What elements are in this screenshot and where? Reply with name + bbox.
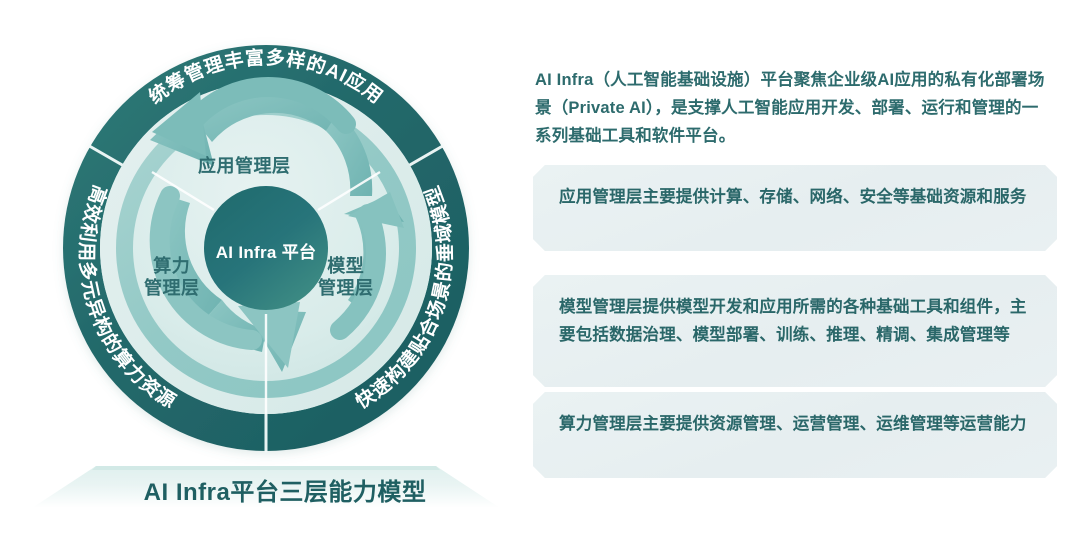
core-label: AI Infra 平台	[186, 238, 346, 263]
inner-label-compute-line2: 管理层	[144, 278, 200, 300]
diagram-title: AI Infra平台三层能力模型	[70, 472, 500, 507]
description-column: AI Infra（人工智能基础设施）平台聚焦企业级AI应用的私有化部署场景（Pr…	[532, 0, 1080, 551]
intro-paragraph: AI Infra（人工智能基础设施）平台聚焦企业级AI应用的私有化部署场景（Pr…	[535, 66, 1051, 151]
compute-layer-card-text: 算力管理层主要提供资源管理、运营管理、运维管理等运营能力	[559, 410, 1031, 438]
application-layer-card: 应用管理层主要提供计算、存储、网络、安全等基础资源和服务	[533, 165, 1057, 251]
model-layer-card-text: 模型管理层提供模型开发和应用所需的各种基础工具和组件，主要包括数据治理、模型部署…	[559, 293, 1031, 350]
inner-label-application-layer: 应用管理层	[198, 156, 291, 178]
application-layer-card-text: 应用管理层主要提供计算、存储、网络、安全等基础资源和服务	[559, 183, 1031, 211]
diagram-graphics: 统筹管理丰富多样的AI应用 高效利用多元异构的算力资源 快速构建贴合场景的垂域模…	[0, 0, 520, 551]
model-layer-card: 模型管理层提供模型开发和应用所需的各种基础工具和组件，主要包括数据治理、模型部署…	[533, 275, 1057, 387]
inner-label-model-line2: 管理层	[318, 278, 374, 300]
compute-layer-card: 算力管理层主要提供资源管理、运营管理、运维管理等运营能力	[533, 392, 1057, 478]
slide-canvas: 统筹管理丰富多样的AI应用 高效利用多元异构的算力资源 快速构建贴合场景的垂域模…	[0, 0, 1080, 551]
capability-model-diagram: 统筹管理丰富多样的AI应用 高效利用多元异构的算力资源 快速构建贴合场景的垂域模…	[0, 0, 520, 551]
